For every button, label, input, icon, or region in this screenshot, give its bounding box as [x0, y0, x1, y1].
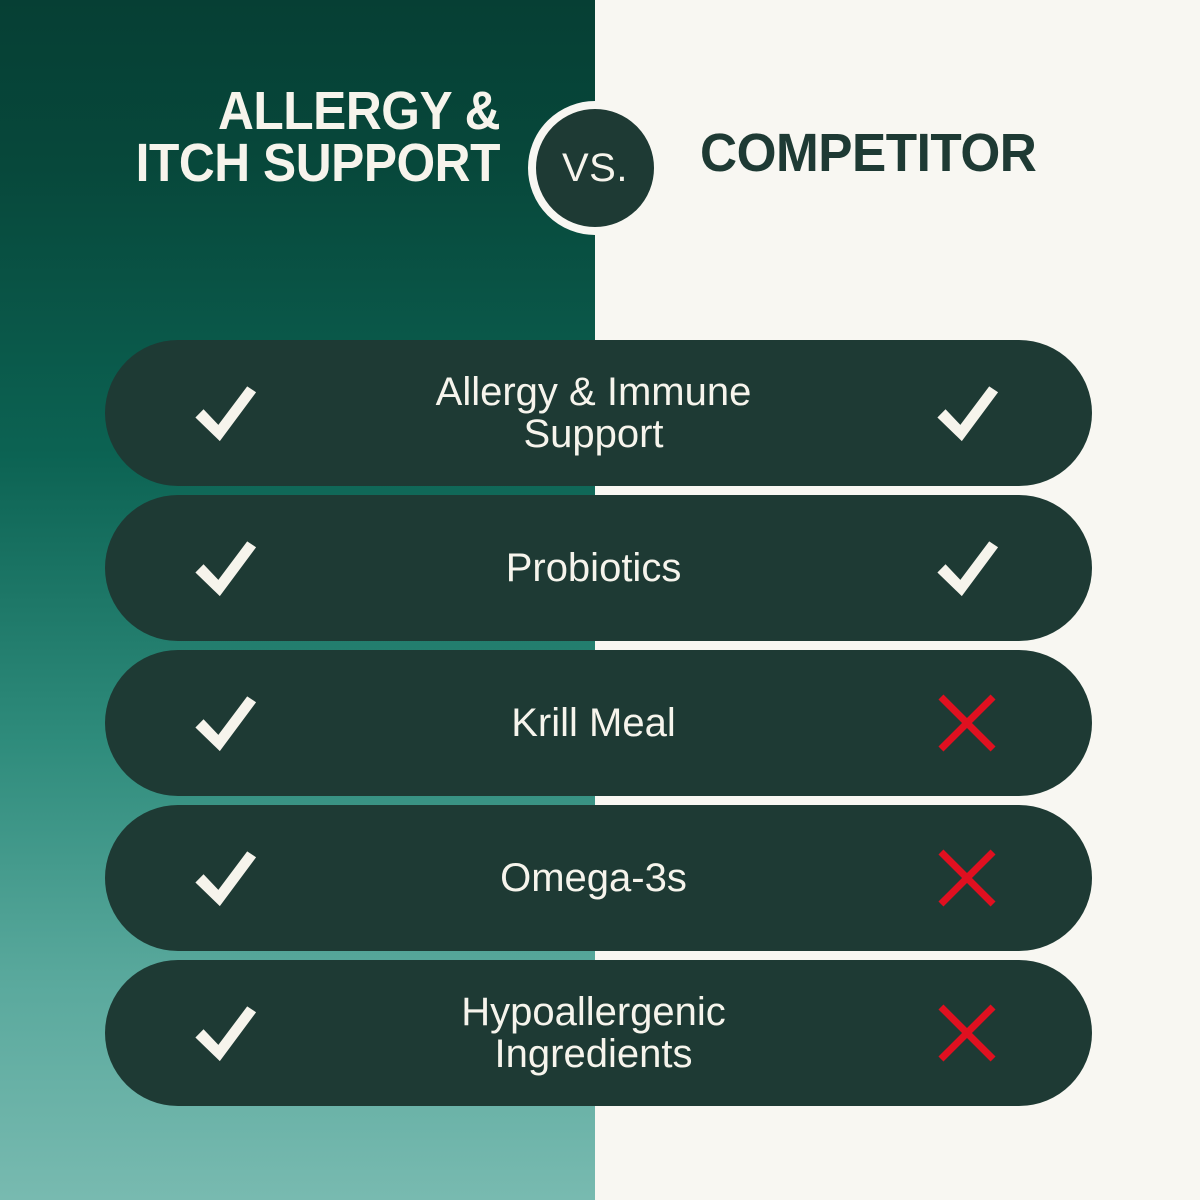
comparison-row: Allergy & ImmuneSupport: [105, 340, 1092, 486]
ours-check-icon: [105, 996, 345, 1070]
feature-label: Allergy & ImmuneSupport: [345, 371, 842, 456]
ours-check-icon: [105, 376, 345, 450]
feature-label-line-1: Krill Meal: [351, 702, 836, 744]
feature-label: HypoallergenicIngredients: [345, 991, 842, 1076]
feature-label-line-1: Omega-3s: [351, 857, 836, 899]
feature-label-line-1: Probiotics: [351, 547, 836, 589]
feature-label-line-2: Ingredients: [351, 1033, 836, 1075]
comparison-row: Krill Meal: [105, 650, 1092, 796]
comparison-infographic: ALLERGY & ITCH SUPPORT VS. COMPETITOR Al…: [0, 0, 1200, 1200]
comparison-row: HypoallergenicIngredients: [105, 960, 1092, 1106]
competitor-cross-icon: [842, 692, 1092, 754]
feature-label-line-2: Support: [351, 413, 836, 455]
competitor-cross-icon: [842, 1002, 1092, 1064]
feature-label-line-1: Allergy & Immune: [351, 371, 836, 413]
ours-check-icon: [105, 686, 345, 760]
comparison-rows: Allergy & ImmuneSupportProbioticsKrill M…: [0, 0, 1200, 1200]
ours-check-icon: [105, 841, 345, 915]
feature-label-line-1: Hypoallergenic: [351, 991, 836, 1033]
feature-label: Krill Meal: [345, 702, 842, 744]
feature-label: Omega-3s: [345, 857, 842, 899]
comparison-row: Probiotics: [105, 495, 1092, 641]
feature-label: Probiotics: [345, 547, 842, 589]
competitor-cross-icon: [842, 847, 1092, 909]
ours-check-icon: [105, 531, 345, 605]
comparison-row: Omega-3s: [105, 805, 1092, 951]
competitor-check-icon: [842, 376, 1092, 450]
competitor-check-icon: [842, 531, 1092, 605]
